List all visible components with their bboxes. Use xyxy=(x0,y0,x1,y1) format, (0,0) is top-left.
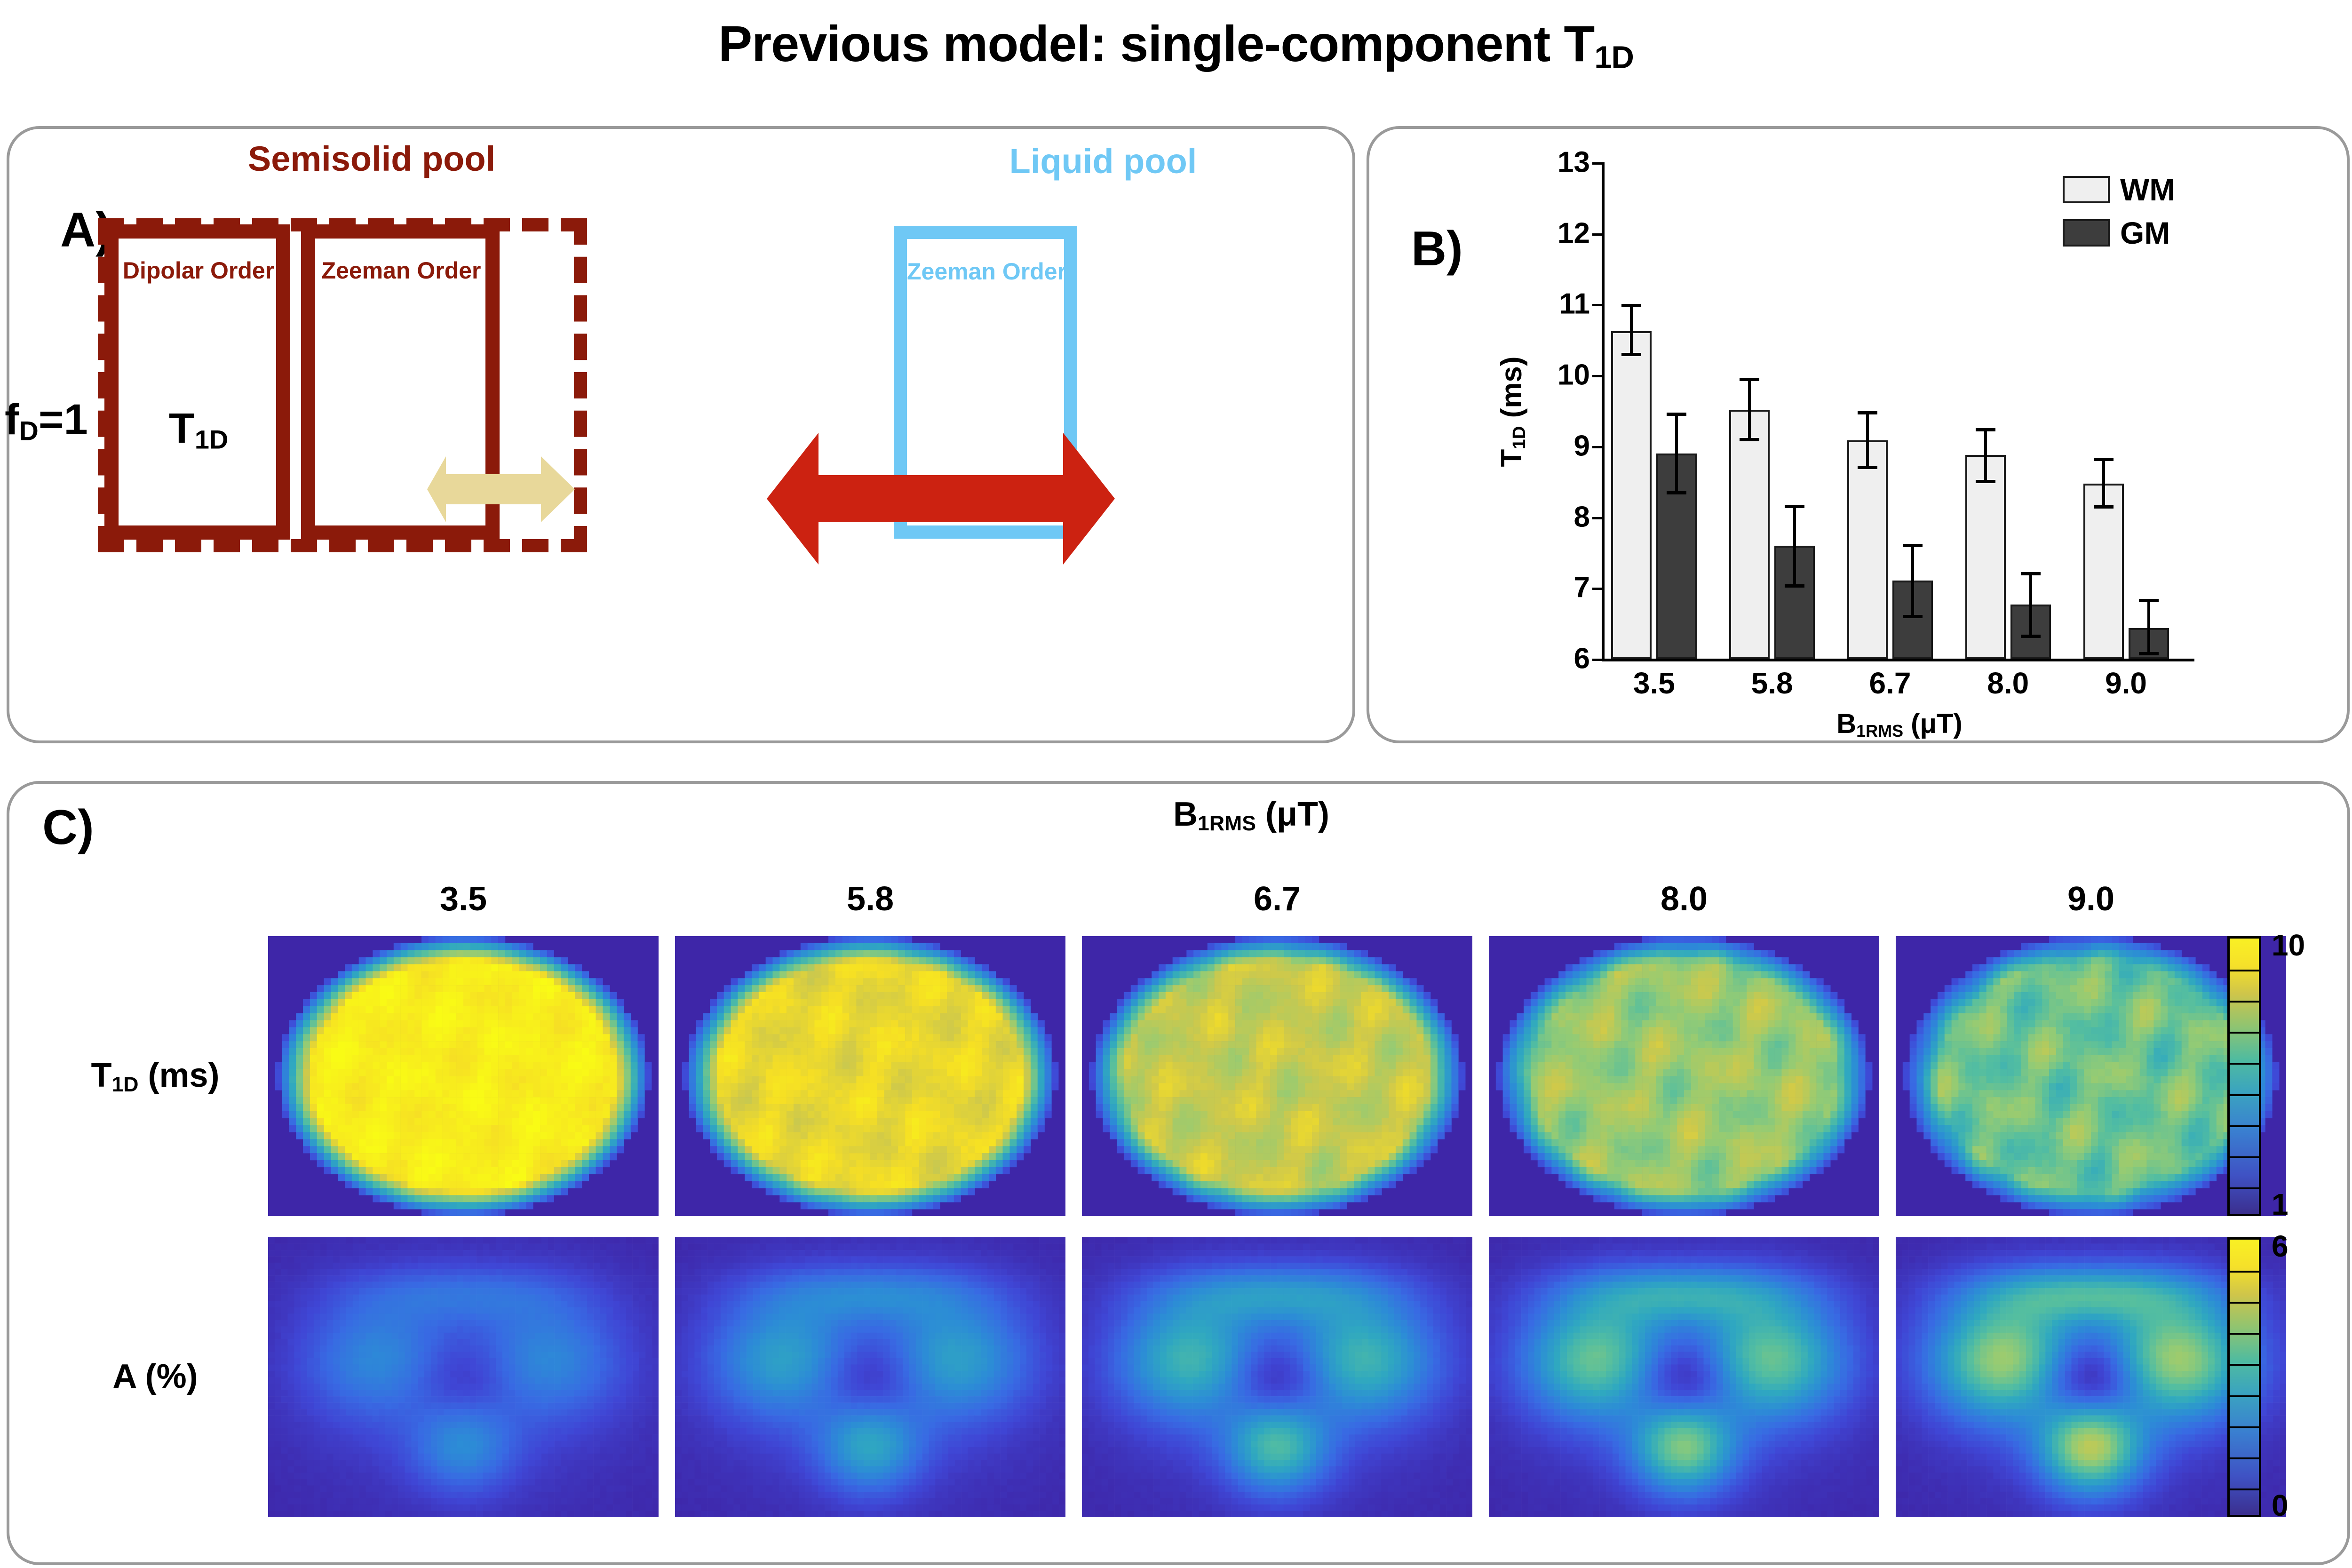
colorbar-tick xyxy=(2230,1457,2259,1459)
bar-wm-9.0 xyxy=(2083,484,2124,659)
fd-tail: =1 xyxy=(39,396,88,444)
error-cap xyxy=(1858,466,1877,469)
colorbar-tick xyxy=(2230,970,2259,971)
error-cap xyxy=(1858,411,1877,414)
pool-exchange-arrow-icon xyxy=(762,423,1120,574)
error-bar-gm-5.8 xyxy=(1793,506,1796,586)
y-tick-label: 8 xyxy=(1534,500,1590,533)
error-cap xyxy=(2139,599,2159,602)
error-cap xyxy=(1740,438,1759,441)
bar-wm-6.7 xyxy=(1847,440,1888,659)
colorbar-gradient xyxy=(2230,939,2259,1214)
map-t1d-6.7 xyxy=(1082,936,1472,1216)
colorbar-tick xyxy=(2230,1302,2259,1304)
y-tick-label: 9 xyxy=(1534,429,1590,462)
x-axis-label-main: B xyxy=(1836,708,1856,739)
legend-swatch-wm xyxy=(2063,176,2110,203)
error-bar-gm-6.7 xyxy=(1911,545,1914,616)
column-title-3.5: 3.5 xyxy=(369,880,557,918)
semisolid-pool-label: Semisolid pool xyxy=(165,139,579,179)
x-tick-label-6.7: 6.7 xyxy=(1838,666,1942,700)
error-cap xyxy=(1667,413,1686,416)
error-bar-wm-8.0 xyxy=(1984,430,1987,481)
error-cap xyxy=(1785,505,1804,508)
colorbar-t1d xyxy=(2227,936,2261,1216)
colorbar-max-label: 10 xyxy=(2272,928,2305,963)
y-axis-label-main: T xyxy=(1495,449,1528,467)
row-label-main: A (%) xyxy=(112,1358,198,1395)
colorbar-max-label: 6 xyxy=(2272,1229,2288,1264)
colorbar-amplitude xyxy=(2227,1237,2261,1517)
bar-wm-8.0 xyxy=(1965,455,2006,659)
colorbar-tick xyxy=(2230,1094,2259,1096)
y-tick-label: 7 xyxy=(1534,571,1590,605)
y-tick-mark xyxy=(1592,304,1603,306)
fd-main: f xyxy=(5,396,19,444)
error-bar-gm-9.0 xyxy=(2147,600,2150,653)
error-cap xyxy=(2094,458,2114,461)
row-label-subscript: 1D xyxy=(111,1073,138,1096)
row-label-amplitude: A (%) xyxy=(56,1357,254,1398)
row-label-tail: (ms) xyxy=(139,1057,220,1094)
y-tick-label: 6 xyxy=(1534,642,1590,676)
y-axis-label: T1D (ms) xyxy=(1495,356,1530,467)
y-tick-mark xyxy=(1592,233,1603,236)
fd-fraction-annotation: fD=1 xyxy=(5,395,88,447)
colorbar-tick xyxy=(2230,1333,2259,1335)
error-cap xyxy=(2021,635,2041,638)
liquid-zeeman-order-label: Zeeman Order xyxy=(898,258,1075,285)
error-cap xyxy=(2021,572,2041,575)
map-t1d-8.0 xyxy=(1489,936,1879,1216)
y-tick-label: 12 xyxy=(1534,216,1590,250)
map-t1d-3.5 xyxy=(268,936,659,1216)
error-cap xyxy=(2094,505,2114,509)
column-title-8.0: 8.0 xyxy=(1590,880,1778,918)
panel-c-header-subscript: 1RMS xyxy=(1198,812,1256,835)
y-tick-label: 10 xyxy=(1534,358,1590,392)
t1d-annotation-main: T xyxy=(169,405,195,452)
figure-title-subscript: 1D xyxy=(1594,40,1634,75)
colorbar-tick xyxy=(2230,1271,2259,1273)
t1d-annotation: T1D xyxy=(109,405,288,454)
error-bar-wm-6.7 xyxy=(1866,413,1869,467)
panel-c-header: B1RMS (μT) xyxy=(358,795,2145,836)
y-axis-label-subscript: 1D xyxy=(1509,426,1529,449)
figure-title-text: Previous model: single-component T xyxy=(718,15,1594,72)
t1d-annotation-subscript: 1D xyxy=(195,424,228,454)
error-bar-wm-5.8 xyxy=(1748,379,1751,439)
bar-wm-3.5 xyxy=(1611,331,1652,659)
colorbar-tick xyxy=(2230,1063,2259,1065)
error-cap xyxy=(1903,615,1923,618)
error-cap xyxy=(1976,480,1995,483)
column-title-9.0: 9.0 xyxy=(1997,880,2185,918)
x-tick-label-3.5: 3.5 xyxy=(1602,666,1706,700)
panel-c-header-tail: (μT) xyxy=(1256,796,1329,833)
colorbar-min-label: 0 xyxy=(2272,1488,2288,1523)
panel-c-header-main: B xyxy=(1173,796,1198,833)
map-amplitude-8.0 xyxy=(1489,1237,1879,1517)
colorbar-tick xyxy=(2230,1395,2259,1397)
row-label-t1d: T1D (ms) xyxy=(56,1056,254,1097)
y-tick-mark xyxy=(1592,446,1603,448)
x-tick-label-9.0: 9.0 xyxy=(2074,666,2178,700)
legend-label-gm: GM xyxy=(2120,215,2170,251)
colorbar-tick xyxy=(2230,1426,2259,1428)
x-axis-label-subscript: 1RMS xyxy=(1856,721,1903,740)
panel-b-letter: B) xyxy=(1411,221,1463,277)
fd-subscript: D xyxy=(19,416,39,446)
y-tick-mark xyxy=(1592,162,1603,165)
map-amplitude-3.5 xyxy=(268,1237,659,1517)
error-cap xyxy=(1785,584,1804,588)
y-tick-mark xyxy=(1592,375,1603,377)
error-cap xyxy=(1903,544,1923,547)
map-t1d-5.8 xyxy=(675,936,1065,1216)
colorbar-min-label: 1 xyxy=(2272,1187,2288,1222)
y-axis-label-tail: (ms) xyxy=(1495,356,1528,426)
error-cap xyxy=(1976,428,1995,431)
error-bar-wm-3.5 xyxy=(1630,305,1633,354)
colorbar-tick xyxy=(2230,1125,2259,1127)
legend-item-wm: WM xyxy=(2063,172,2175,207)
bar-chart: T1D (ms) B1RMS (μT) 678910111213 3.55.86… xyxy=(1541,162,2293,741)
figure-title: Previous model: single-component T1D xyxy=(0,14,2352,76)
row-label-main: T xyxy=(91,1057,111,1094)
x-axis-label-tail: (μT) xyxy=(1903,708,1963,739)
panel-c-letter: C) xyxy=(42,800,94,856)
error-cap xyxy=(2139,652,2159,655)
error-cap xyxy=(1621,304,1641,307)
error-bar-gm-8.0 xyxy=(2029,573,2032,636)
legend-swatch-gm xyxy=(2063,219,2110,247)
dipolar-order-label: Dipolar Order xyxy=(109,257,288,284)
y-tick-mark xyxy=(1592,517,1603,519)
map-amplitude-5.8 xyxy=(675,1237,1065,1517)
y-tick-label: 13 xyxy=(1534,146,1590,179)
y-tick-mark xyxy=(1592,588,1603,590)
colorbar-tick xyxy=(2230,1364,2259,1366)
legend-label-wm: WM xyxy=(2120,172,2175,207)
colorbar-gradient xyxy=(2230,1240,2259,1515)
colorbar-tick xyxy=(2230,1001,2259,1003)
error-cap xyxy=(1621,353,1641,356)
map-amplitude-6.7 xyxy=(1082,1237,1472,1517)
colorbar-tick xyxy=(2230,1488,2259,1490)
bar-wm-5.8 xyxy=(1729,410,1770,659)
chart-legend: WMGM xyxy=(2063,172,2175,258)
zeeman-order-label: Zeeman Order xyxy=(305,257,498,284)
internal-exchange-arrow-icon xyxy=(423,452,579,527)
x-axis-label: B1RMS (μT) xyxy=(1605,708,2194,741)
error-bar-wm-9.0 xyxy=(2102,459,2105,507)
x-axis-line xyxy=(1602,659,2194,661)
colorbar-tick xyxy=(2230,1032,2259,1034)
colorbar-tick xyxy=(2230,1187,2259,1189)
liquid-pool-label: Liquid pool xyxy=(938,141,1268,181)
error-cap xyxy=(1740,378,1759,381)
y-tick-label: 11 xyxy=(1534,287,1590,321)
x-tick-label-5.8: 5.8 xyxy=(1720,666,1824,700)
column-title-5.8: 5.8 xyxy=(776,880,964,918)
error-bar-gm-3.5 xyxy=(1675,414,1678,493)
y-tick-mark xyxy=(1592,659,1603,661)
error-cap xyxy=(1667,491,1686,494)
colorbar-tick xyxy=(2230,1156,2259,1158)
legend-item-gm: GM xyxy=(2063,215,2175,251)
column-title-6.7: 6.7 xyxy=(1183,880,1371,918)
x-tick-label-8.0: 8.0 xyxy=(1956,666,2060,700)
